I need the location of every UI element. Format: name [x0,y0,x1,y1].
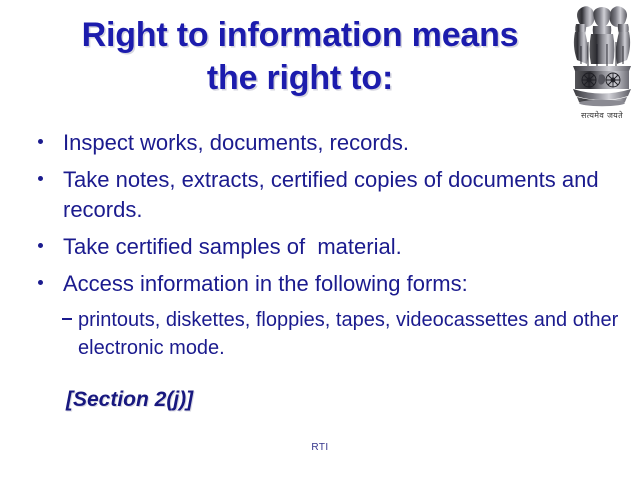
state-emblem-of-india-icon: सत्यमेव जयते [567,2,637,128]
emblem-motto-text: सत्यमेव जयते [567,110,637,121]
body-content: Inspect works, documents, records. Take … [0,128,640,366]
sub-list-item-label: printouts, diskettes, floppies, tapes, v… [78,306,640,362]
slide-footer: RTI [0,442,640,453]
slide-canvas: Right to information means the right to: [0,0,640,480]
list-item-label: Access information in the following form… [63,269,640,299]
list-item-label: Take notes, extracts, certified copies o… [63,165,640,225]
bullet-dot-icon [38,139,43,144]
bullet-dot-icon [38,243,43,248]
list-item: Access information in the following form… [0,269,640,299]
list-item: Take certified samples of material. [0,232,640,262]
sub-list-item: printouts, diskettes, floppies, tapes, v… [0,306,640,362]
bullet-dot-icon [38,280,43,285]
list-item: Inspect works, documents, records. [0,128,640,158]
list-item-label: Take certified samples of material. [63,232,640,262]
page-title: Right to information means the right to: [26,14,574,100]
title-line-1: Right to information means [26,14,574,57]
section-reference: [Section 2(j)] [66,388,193,412]
list-item: Take notes, extracts, certified copies o… [0,165,640,225]
bullet-dot-icon [38,176,43,181]
list-item-label: Inspect works, documents, records. [63,128,640,158]
dash-bullet-icon [62,318,72,320]
title-line-2: the right to: [26,57,574,100]
